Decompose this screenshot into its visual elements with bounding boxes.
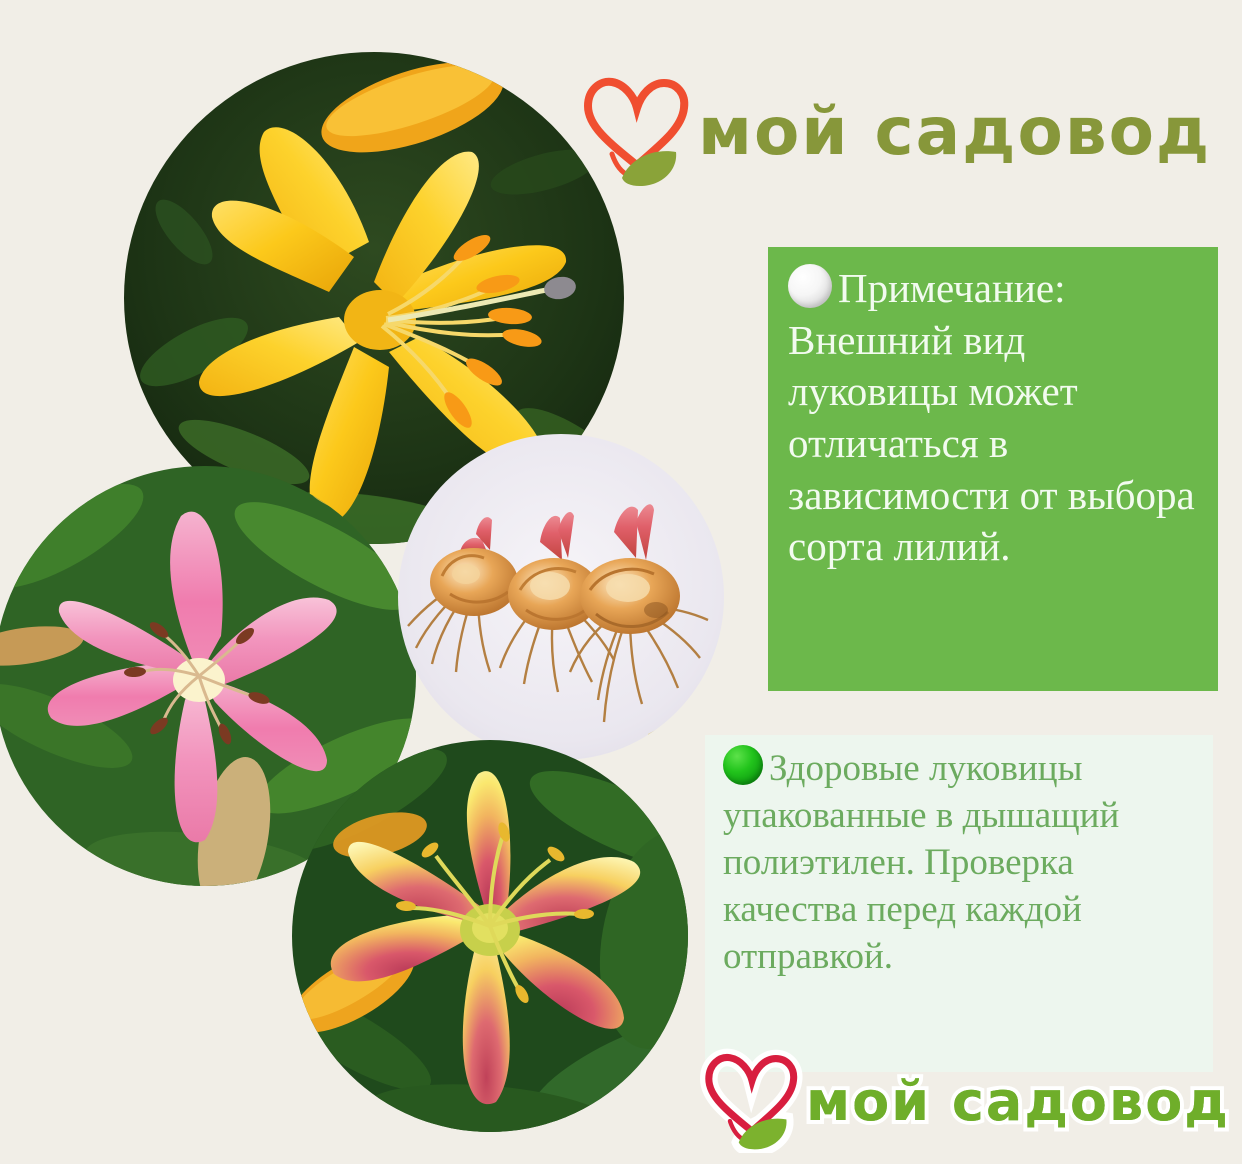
heart-leaf-icon bbox=[700, 1047, 804, 1158]
heart-leaf-icon bbox=[578, 70, 696, 195]
brand-logo-bottom[interactable]: мой садовод мой садовод bbox=[700, 1046, 1215, 1158]
note-box: Примечание: Внешний вид луковицы может о… bbox=[768, 247, 1218, 691]
brand-wordmark-bottom: мой садовод bbox=[806, 1075, 1230, 1129]
healthy-bulbs-box: Здоровые луковицы упакованные в дышащий … bbox=[705, 735, 1213, 1072]
note-text-block: Примечание: Внешний вид луковицы может о… bbox=[788, 263, 1196, 573]
white-sphere-bullet-icon bbox=[788, 264, 832, 308]
poster-canvas: мой садовод Примечание: Внешний вид луко… bbox=[0, 0, 1242, 1164]
brand-wordmark-top: мой садовод bbox=[698, 99, 1211, 165]
photo-lily-bulbs bbox=[398, 434, 724, 760]
brand-logo-top[interactable]: мой садовод bbox=[578, 62, 1223, 202]
green-sphere-bullet-icon bbox=[723, 745, 763, 785]
photo-bicolor-lily bbox=[292, 740, 688, 1132]
healthy-text: Здоровые луковицы упакованные в дышащий … bbox=[723, 748, 1119, 977]
healthy-text-block: Здоровые луковицы упакованные в дышащий … bbox=[723, 745, 1197, 981]
note-text: Примечание: Внешний вид луковицы может о… bbox=[788, 265, 1195, 569]
